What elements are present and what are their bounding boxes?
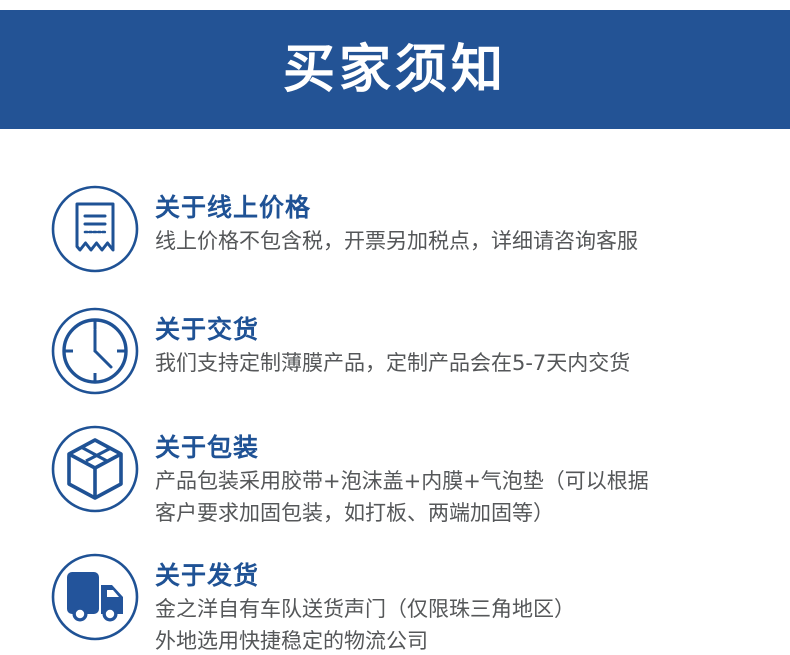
- notice-item-delivery-time: 关于交货 我们支持定制薄膜产品，定制产品会在5-7天内交货: [0, 306, 790, 396]
- notice-line: 线上价格不包含税，开票另加税点，详细请咨询客服: [155, 226, 638, 258]
- notice-title: 关于线上价格: [155, 192, 638, 223]
- notice-sections: 关于线上价格 线上价格不包含税，开票另加税点，详细请咨询客服 关于交: [0, 129, 790, 655]
- notice-title: 关于包装: [155, 432, 649, 463]
- truck-icon: [50, 552, 140, 642]
- notice-line: 产品包装采用胶带+泡沫盖+内膜+气泡垫（可以根据: [155, 466, 649, 498]
- notice-line: 外地选用快捷稳定的物流公司: [155, 626, 575, 655]
- notice-body: 关于线上价格 线上价格不包含税，开票另加税点，详细请咨询客服: [155, 184, 638, 258]
- buyer-notice-page: 买家须知 关于线上价格 线上价格不包含税，开票另加税点，详细请咨询客服: [0, 0, 790, 655]
- notice-body: 关于发货 金之洋自有车队送货声门（仅限珠三角地区） 外地选用快捷稳定的物流公司: [155, 552, 575, 655]
- notice-line: 金之洋自有车队送货声门（仅限珠三角地区）: [155, 594, 575, 626]
- notice-body: 关于包装 产品包装采用胶带+泡沫盖+内膜+气泡垫（可以根据 客户要求加固包装，如…: [155, 424, 649, 530]
- header-banner: 买家须知: [0, 10, 790, 129]
- notice-item-price: 关于线上价格 线上价格不包含税，开票另加税点，详细请咨询客服: [0, 184, 790, 274]
- notice-line: 我们支持定制薄膜产品，定制产品会在5-7天内交货: [155, 348, 630, 380]
- notice-body: 关于交货 我们支持定制薄膜产品，定制产品会在5-7天内交货: [155, 306, 630, 380]
- notice-item-shipping: 关于发货 金之洋自有车队送货声门（仅限珠三角地区） 外地选用快捷稳定的物流公司: [0, 552, 790, 655]
- receipt-icon: [50, 184, 140, 274]
- notice-title: 关于交货: [155, 314, 630, 345]
- clock-icon: [50, 306, 140, 396]
- notice-line: 客户要求加固包装，如打板、两端加固等）: [155, 498, 649, 530]
- box-icon: [50, 424, 140, 514]
- notice-item-packaging: 关于包装 产品包装采用胶带+泡沫盖+内膜+气泡垫（可以根据 客户要求加固包装，如…: [0, 424, 790, 530]
- notice-title: 关于发货: [155, 560, 575, 591]
- page-title: 买家须知: [283, 44, 507, 96]
